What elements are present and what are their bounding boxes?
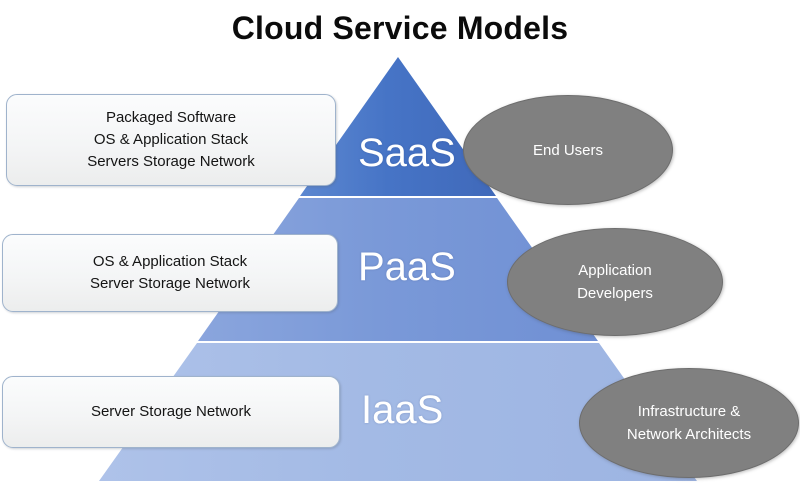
stack-box-saas-line-3: Servers Storage Network [7,151,335,173]
stack-box-iaas: Server Storage Network [2,376,340,448]
stack-box-saas-line-2: OS & Application Stack [7,129,335,151]
audience-iaas-line-1: Infrastructure & [580,400,798,423]
tier-label-iaas: IaaS [361,388,443,432]
audience-paas-line-2: Developers [508,282,722,305]
tier-label-paas: PaaS [358,245,456,289]
tier-label-saas: SaaS [358,131,456,175]
audience-ellipse-iaas: Infrastructure & Network Architects [579,368,799,478]
audience-ellipse-paas: Application Developers [507,228,723,336]
audience-paas-line-1: Application [508,259,722,282]
audience-saas-line-1: End Users [464,139,672,162]
stack-box-paas: OS & Application Stack Server Storage Ne… [2,234,338,312]
cloud-service-models-diagram: Cloud Service Models [0,0,800,486]
stack-box-iaas-line-1: Server Storage Network [3,401,339,423]
stack-box-saas: Packaged Software OS & Application Stack… [6,94,336,186]
stack-box-paas-line-1: OS & Application Stack [3,251,337,273]
stack-box-paas-line-2: Server Storage Network [3,273,337,295]
audience-iaas-line-2: Network Architects [580,423,798,446]
stack-box-saas-line-1: Packaged Software [7,107,335,129]
audience-ellipse-saas: End Users [463,95,673,205]
